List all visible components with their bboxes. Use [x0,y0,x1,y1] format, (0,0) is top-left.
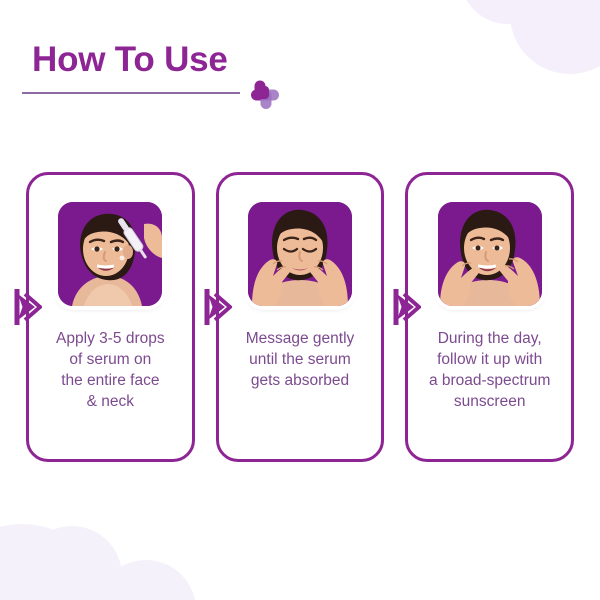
step-caption-2: Message gently until the serum gets abso… [238,328,363,391]
steps-row: Apply 3-5 drops of serum on the entire f… [26,172,574,462]
step-card-2[interactable]: Message gently until the serum gets abso… [216,172,385,462]
page-title: How To Use [32,40,572,80]
step-caption-1: Apply 3-5 drops of serum on the entire f… [48,328,173,412]
decor-blob-bottom-left-second [96,560,196,600]
step-image-1 [58,202,162,306]
decor-blob-bottom-left-arch [22,526,122,600]
step-card-3[interactable]: During the day, follow it up with a broa… [405,172,574,462]
four-petal-flower-icon [248,78,282,112]
how-to-use-panel: How To Use [0,0,600,600]
title-underline [22,92,240,94]
decor-blob-top-right-second [460,0,556,24]
chevron-right-icon [12,287,42,327]
decor-blob-bottom-left [0,524,104,600]
step-image-3 [438,202,542,306]
step-caption-3: During the day, follow it up with a broa… [421,328,558,412]
section-header: How To Use [32,40,572,80]
step-image-2 [248,202,352,306]
chevron-right-icon [202,287,232,327]
chevron-right-icon [391,287,421,327]
step-card-1[interactable]: Apply 3-5 drops of serum on the entire f… [26,172,195,462]
